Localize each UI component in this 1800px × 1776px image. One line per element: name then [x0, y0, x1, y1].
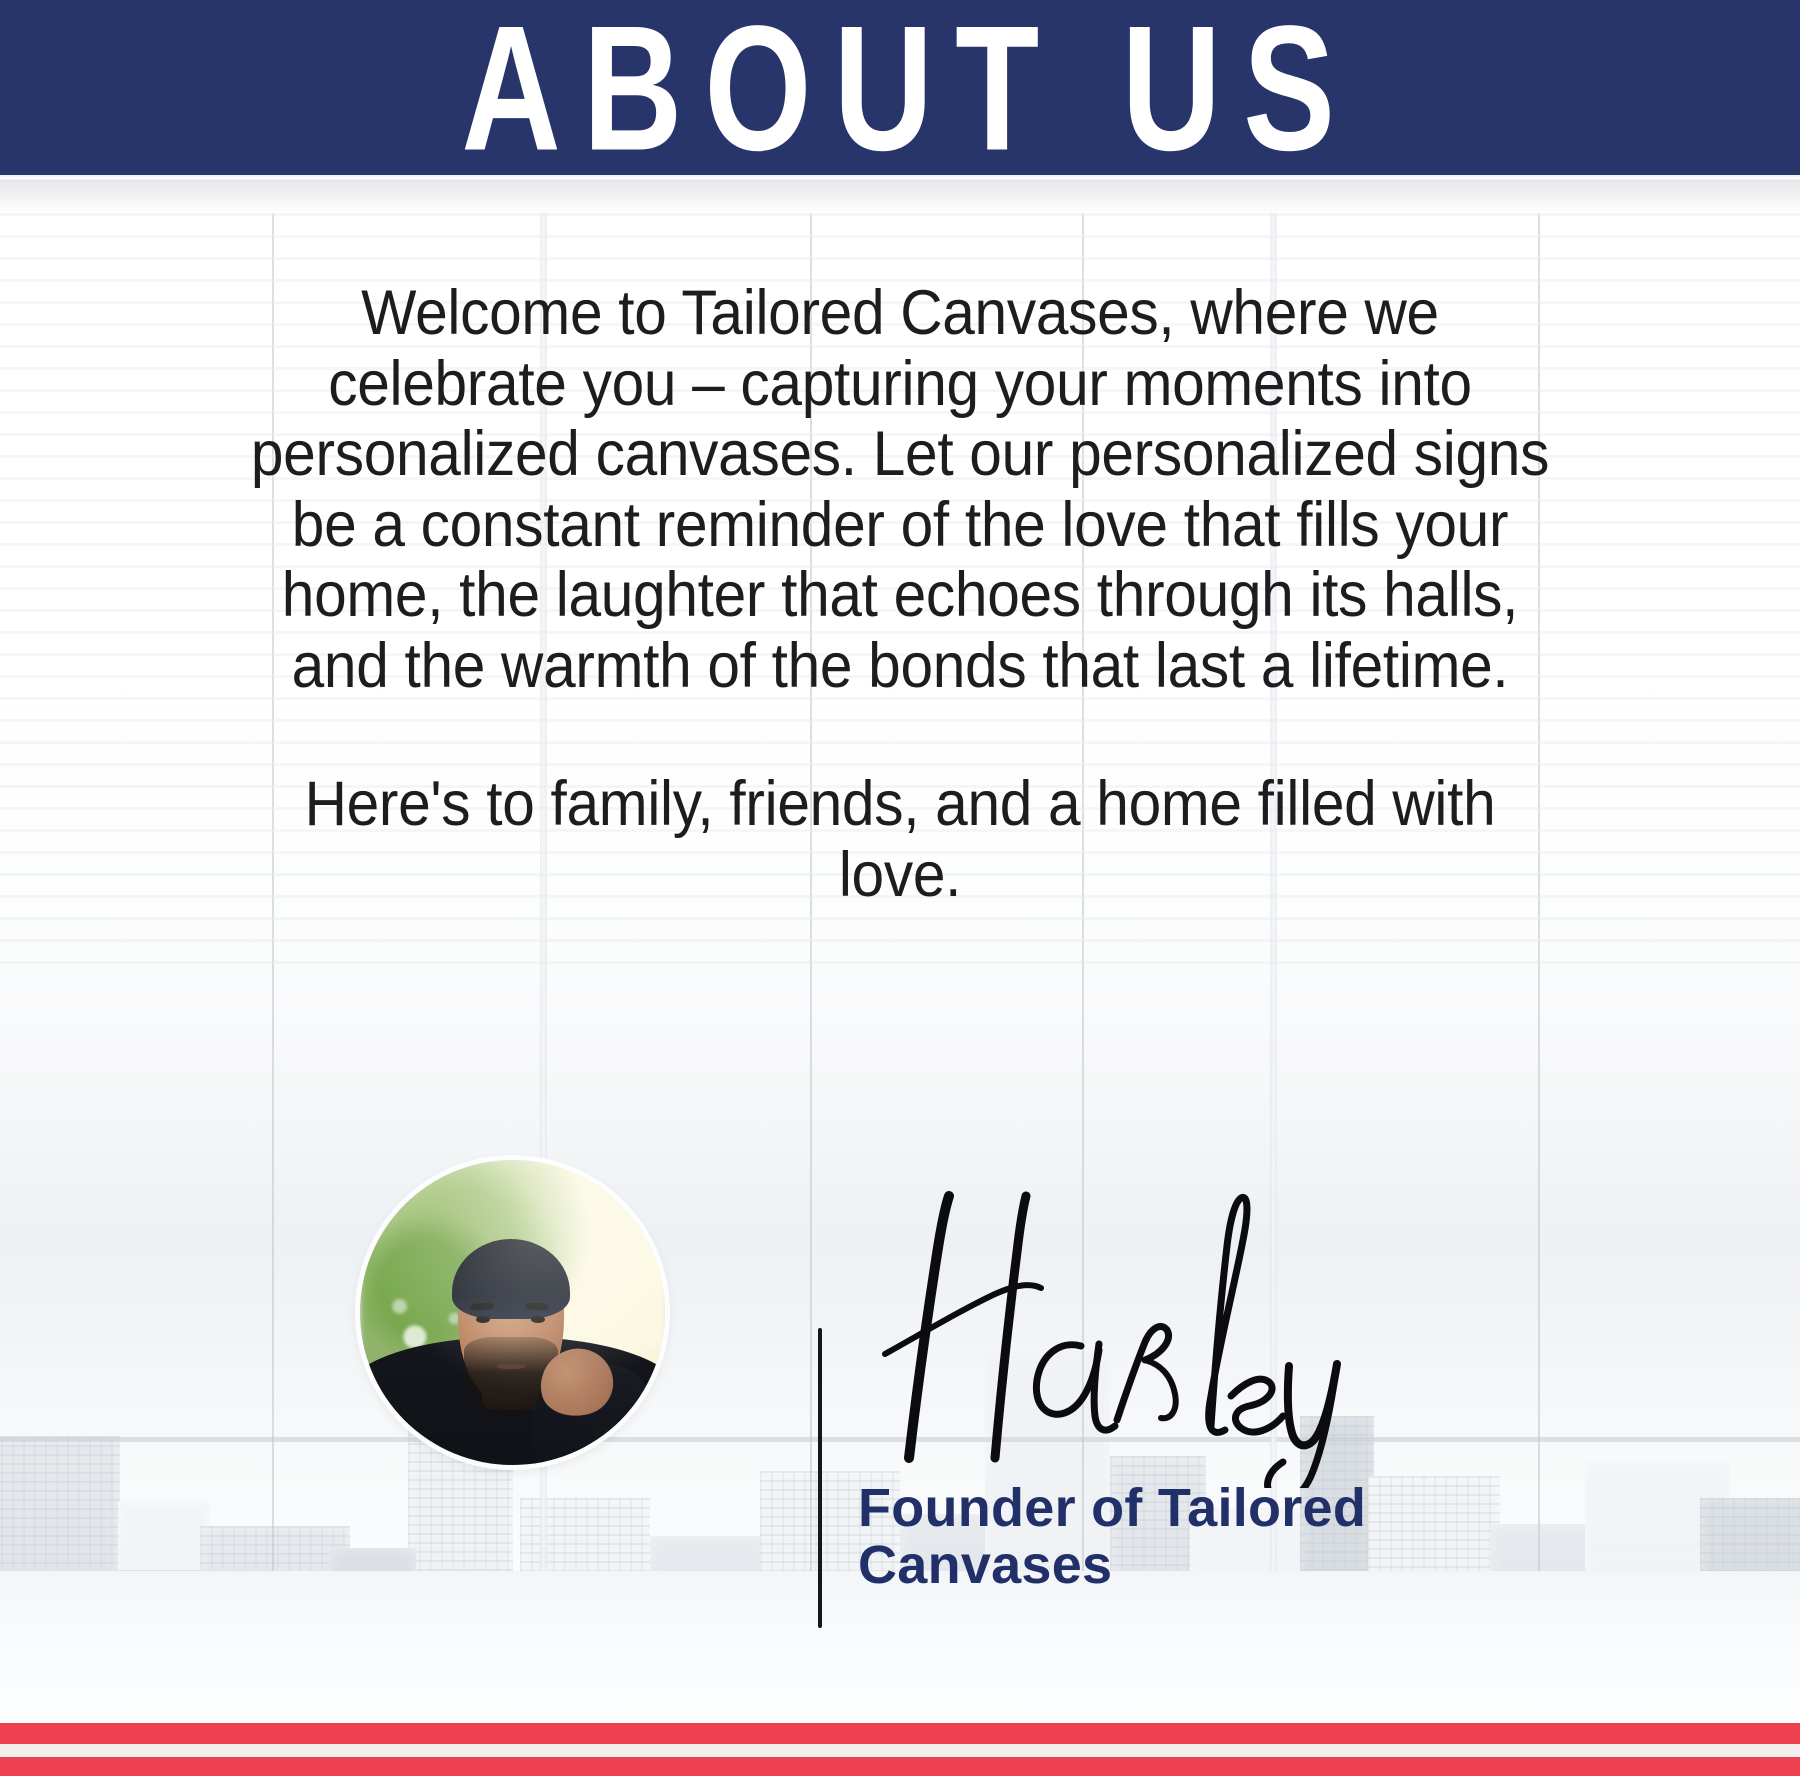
about-us-body-copy: Welcome to Tailored Canvases, where we c…	[249, 278, 1551, 910]
vertical-divider	[818, 1328, 822, 1628]
founder-role-line-2: Canvases	[858, 1537, 1478, 1594]
footer-stripe-gap	[0, 1744, 1800, 1757]
paragraph-spacer	[249, 701, 1551, 769]
header-bar: ABOUT US	[0, 0, 1800, 175]
founder-role-line-1: Founder of Tailored	[858, 1480, 1478, 1537]
founder-signature	[845, 1158, 1405, 1488]
founder-portrait-photo	[360, 1160, 665, 1465]
footer-stripe-bottom	[0, 1757, 1800, 1776]
avatar	[360, 1160, 665, 1465]
about-us-poster: ABOUT US Welcome to Tailored Canvases, w…	[0, 0, 1800, 1776]
body-paragraph-1: Welcome to Tailored Canvases, where we c…	[249, 278, 1551, 701]
page-title: ABOUT US	[443, 0, 1357, 177]
header-dropshadow	[0, 181, 1800, 213]
founder-block: Founder of Tailored Canvases	[0, 1150, 1800, 1550]
founder-role: Founder of Tailored Canvases	[858, 1480, 1478, 1594]
footer-stripe-top	[0, 1723, 1800, 1744]
body-paragraph-2: Here's to family, friends, and a home fi…	[249, 769, 1551, 910]
